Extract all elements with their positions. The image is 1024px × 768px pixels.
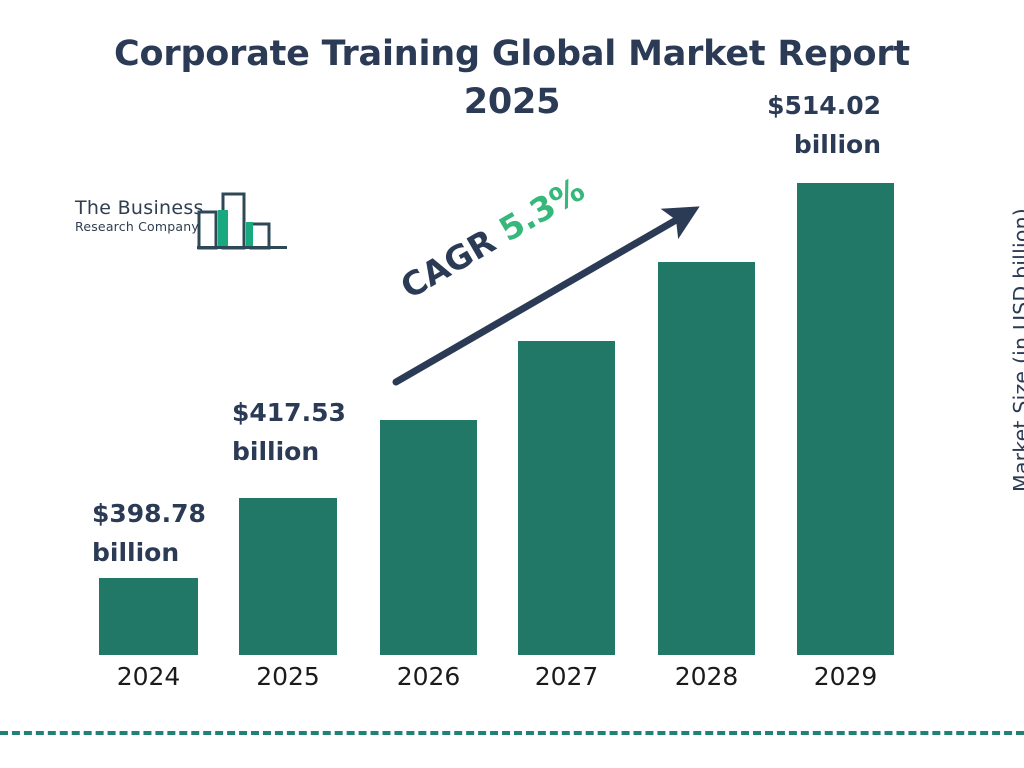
value-callout-2024-unit: billion	[92, 533, 227, 572]
x-tick-label-2024: 2024	[99, 662, 198, 692]
value-callout-2029: $514.02 billion	[736, 86, 881, 164]
value-callout-2029-unit: billion	[736, 125, 881, 164]
chart-page: Corporate Training Global Market Report …	[0, 0, 1024, 768]
value-callout-2029-amount: $514.02	[736, 86, 881, 125]
bar-2025	[239, 498, 337, 655]
value-callout-2024: $398.78 billion	[92, 494, 227, 572]
y-axis-title: Market Size (in USD billion)	[1001, 185, 1024, 515]
x-tick-label-2026: 2026	[380, 662, 477, 692]
bar-2029	[797, 183, 894, 655]
value-callout-2025-unit: billion	[232, 432, 382, 471]
bar-2024	[99, 578, 198, 655]
x-tick-label-2029: 2029	[797, 662, 894, 692]
value-callout-2024-amount: $398.78	[92, 494, 227, 533]
x-tick-label-2025: 2025	[239, 662, 337, 692]
x-tick-label-2028: 2028	[658, 662, 755, 692]
value-callout-2025: $417.53 billion	[232, 393, 382, 471]
value-callout-2025-amount: $417.53	[232, 393, 382, 432]
footer-divider	[0, 731, 1024, 735]
x-tick-label-2027: 2027	[518, 662, 615, 692]
bar-2026	[380, 420, 477, 655]
